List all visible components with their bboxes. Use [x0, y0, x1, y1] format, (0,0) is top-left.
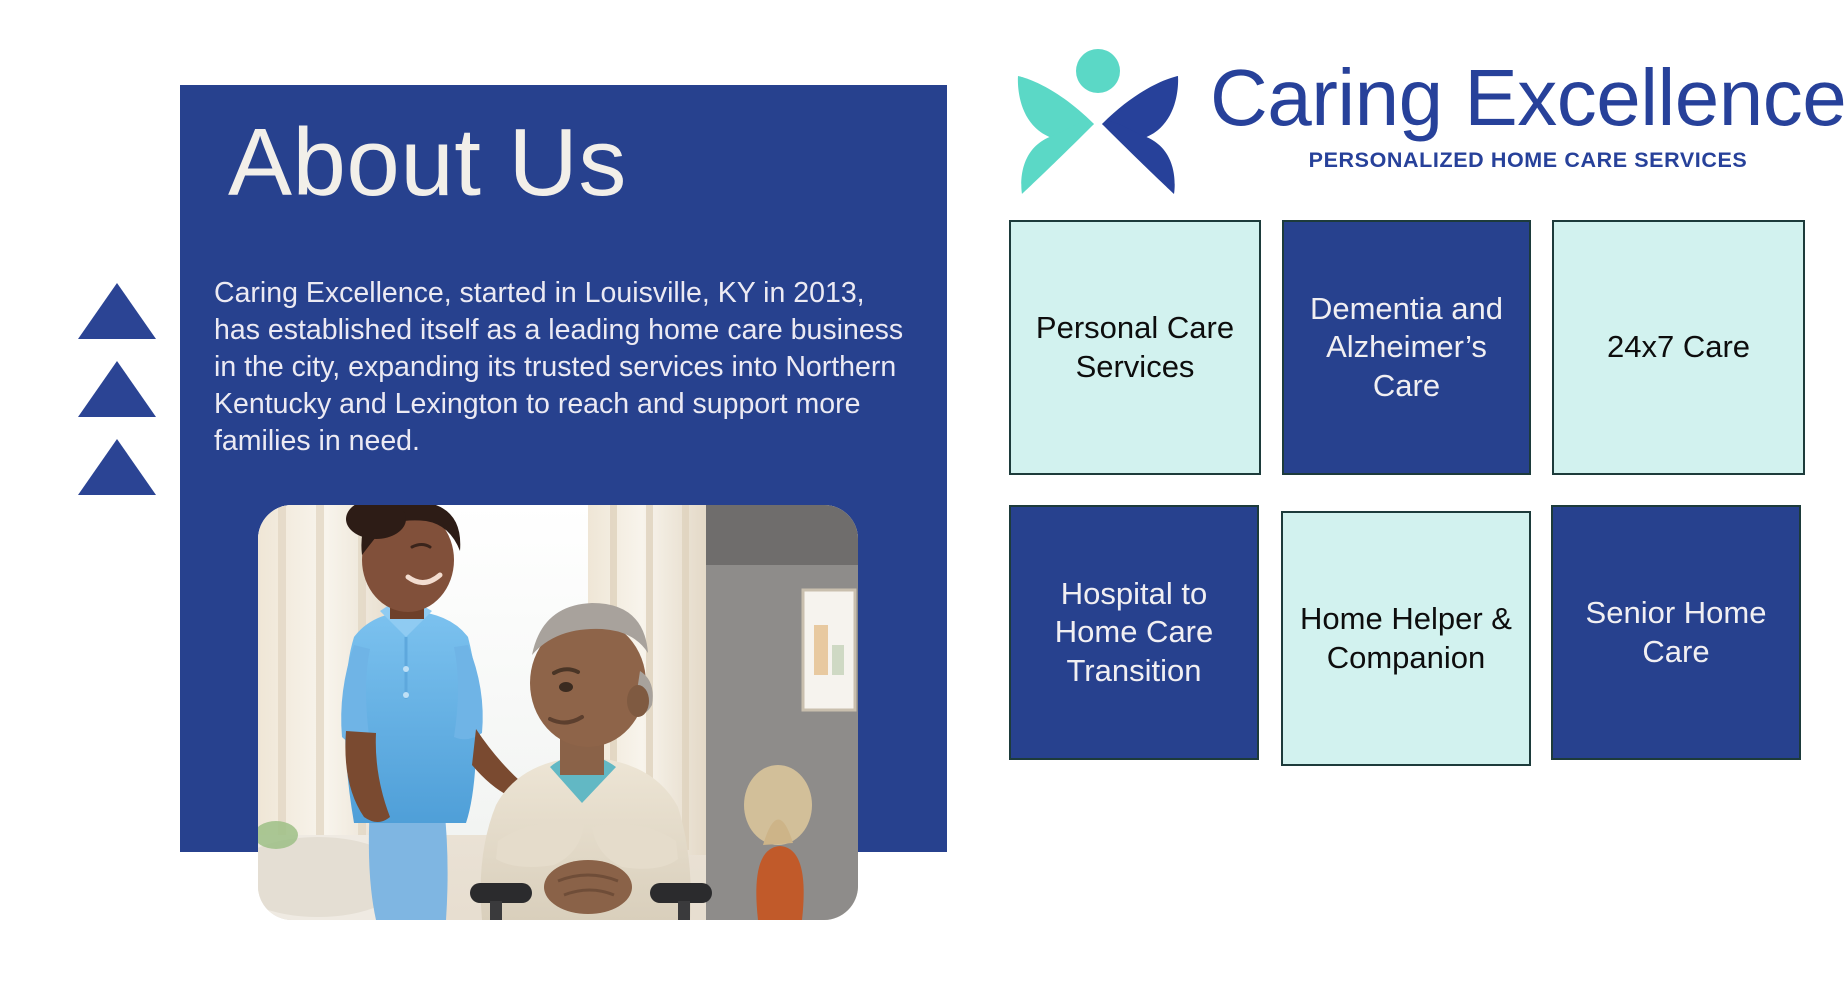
triangle-decoration-group: [78, 283, 158, 513]
brand-tagline: PERSONALIZED HOME CARE SERVICES: [1218, 148, 1838, 173]
service-tile-senior-home-care[interactable]: Senior Home Care: [1551, 505, 1801, 760]
brand-logo: Caring Excellence PERSONALIZED HOME CARE…: [1012, 38, 1832, 196]
service-tile-hospital-to-home-care-transition[interactable]: Hospital to Home Care Transition: [1009, 505, 1259, 760]
brand-name: Caring Excellence: [1210, 58, 1846, 138]
triangle-icon: [78, 439, 156, 495]
about-description: Caring Excellence, started in Louisville…: [214, 275, 904, 460]
caregiver-photo: [258, 505, 858, 920]
service-tile-home-helper-companion[interactable]: Home Helper & Companion: [1281, 511, 1531, 766]
service-tile-grid: Personal Care Services Dementia and Alzh…: [1009, 220, 1833, 750]
service-tile-dementia-alzheimers-care[interactable]: Dementia and Alzheimer’s Care: [1282, 220, 1531, 475]
triangle-icon: [78, 361, 156, 417]
page-title: About Us: [228, 113, 627, 214]
service-tile-personal-care-services[interactable]: Personal Care Services: [1009, 220, 1261, 475]
service-tile-24x7-care[interactable]: 24x7 Care: [1552, 220, 1805, 475]
triangle-icon: [78, 283, 156, 339]
caring-excellence-figure-logo-icon: [1012, 46, 1184, 196]
